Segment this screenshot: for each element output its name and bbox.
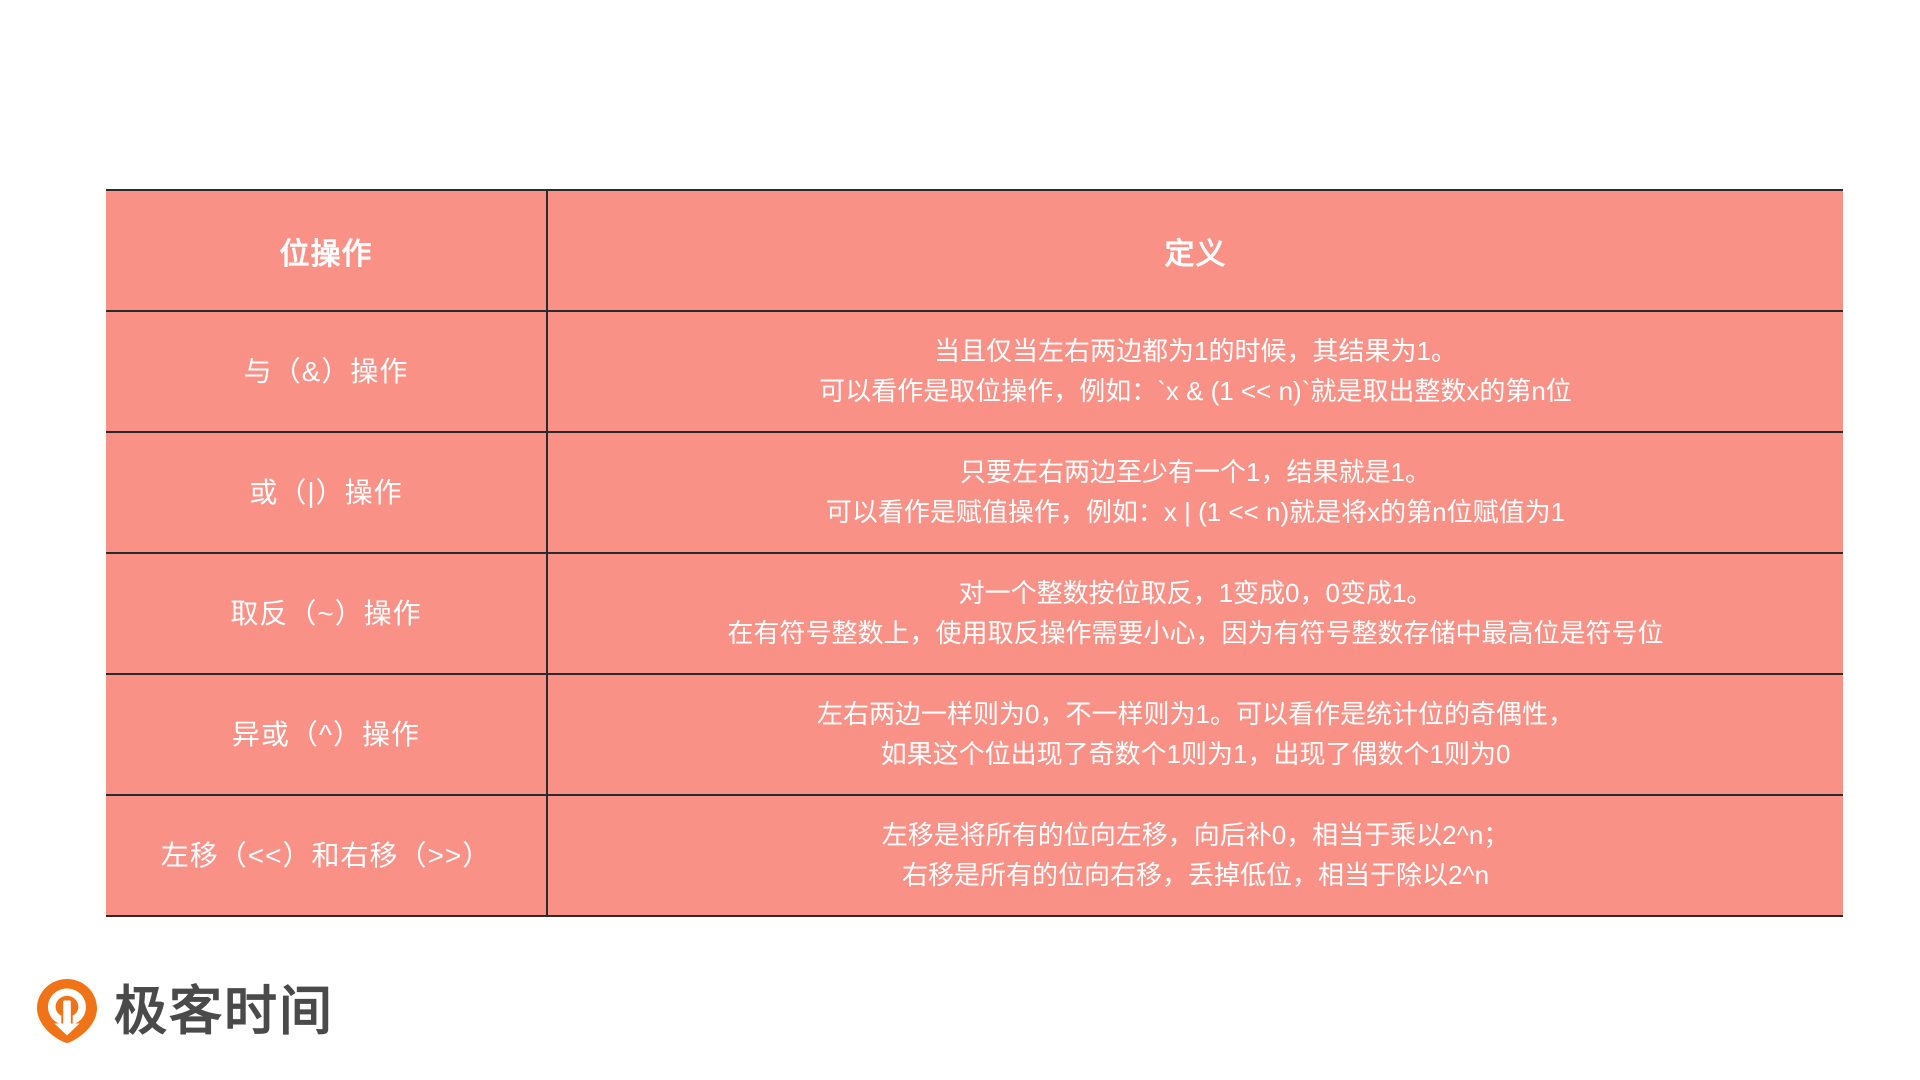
operation-label: 左移（<<）和右移（>>）: [106, 837, 546, 875]
cell-operation: 异或（^）操作: [106, 674, 547, 795]
table-header-row: 位操作 定义: [106, 190, 1843, 311]
cell-operation: 左移（<<）和右移（>>）: [106, 795, 547, 916]
definition-line: 可以看作是取位操作，例如：`x & (1 << n)`就是取出整数x的第n位: [548, 372, 1843, 412]
operation-label: 与（&）操作: [106, 353, 546, 391]
table-row: 与（&）操作 当且仅当左右两边都为1的时候，其结果为1。 可以看作是取位操作，例…: [106, 311, 1843, 432]
definition-line: 可以看作是赋值操作，例如：x | (1 << n)就是将x的第n位赋值为1: [548, 493, 1843, 533]
table-header: 位操作 定义: [106, 190, 1843, 311]
cell-definition: 左右两边一样则为0，不一样则为1。可以看作是统计位的奇偶性， 如果这个位出现了奇…: [547, 674, 1843, 795]
table-row: 取反（~）操作 对一个整数按位取反，1变成0，0变成1。 在有符号整数上，使用取…: [106, 553, 1843, 674]
cell-operation: 取反（~）操作: [106, 553, 547, 674]
table-row: 左移（<<）和右移（>>） 左移是将所有的位向左移，向后补0，相当于乘以2^n；…: [106, 795, 1843, 916]
definition-line: 左移是将所有的位向左移，向后补0，相当于乘以2^n；: [548, 816, 1843, 856]
cell-definition: 当且仅当左右两边都为1的时候，其结果为1。 可以看作是取位操作，例如：`x & …: [547, 311, 1843, 432]
column-header-operation: 位操作: [106, 190, 547, 311]
cell-operation: 与（&）操作: [106, 311, 547, 432]
slide-canvas: 位操作 定义 与（&）操作 当且仅当左右两边都为1的时候，其结果为1。 可以看作…: [0, 0, 1920, 1080]
brand-logo-text: 极客时间: [114, 985, 334, 1038]
definition-line: 只要左右两边至少有一个1，结果就是1。: [548, 453, 1843, 493]
definition-line: 对一个整数按位取反，1变成0，0变成1。: [548, 574, 1843, 614]
definition-line: 当且仅当左右两边都为1的时候，其结果为1。: [548, 332, 1843, 372]
column-header-definition: 定义: [547, 190, 1843, 311]
table-row: 或（|）操作 只要左右两边至少有一个1，结果就是1。 可以看作是赋值操作，例如：…: [106, 432, 1843, 553]
bit-operations-table: 位操作 定义 与（&）操作 当且仅当左右两边都为1的时候，其结果为1。 可以看作…: [106, 189, 1843, 917]
geekbang-pin-icon: [36, 978, 98, 1044]
definition-line: 左右两边一样则为0，不一样则为1。可以看作是统计位的奇偶性，: [548, 695, 1843, 735]
brand-logo: 极客时间: [36, 978, 334, 1044]
cell-definition: 只要左右两边至少有一个1，结果就是1。 可以看作是赋值操作，例如：x | (1 …: [547, 432, 1843, 553]
bit-operations-table-container: 位操作 定义 与（&）操作 当且仅当左右两边都为1的时候，其结果为1。 可以看作…: [106, 189, 1843, 917]
definition-line: 如果这个位出现了奇数个1则为1，出现了偶数个1则为0: [548, 735, 1843, 775]
definition-line: 在有符号整数上，使用取反操作需要小心，因为有符号整数存储中最高位是符号位: [548, 614, 1843, 654]
cell-definition: 对一个整数按位取反，1变成0，0变成1。 在有符号整数上，使用取反操作需要小心，…: [547, 553, 1843, 674]
operation-label: 异或（^）操作: [106, 716, 546, 754]
cell-definition: 左移是将所有的位向左移，向后补0，相当于乘以2^n； 右移是所有的位向右移，丢掉…: [547, 795, 1843, 916]
operation-label: 或（|）操作: [106, 474, 546, 512]
table-row: 异或（^）操作 左右两边一样则为0，不一样则为1。可以看作是统计位的奇偶性， 如…: [106, 674, 1843, 795]
cell-operation: 或（|）操作: [106, 432, 547, 553]
definition-line: 右移是所有的位向右移，丢掉低位，相当于除以2^n: [548, 856, 1843, 896]
table-body: 与（&）操作 当且仅当左右两边都为1的时候，其结果为1。 可以看作是取位操作，例…: [106, 311, 1843, 916]
operation-label: 取反（~）操作: [106, 595, 546, 633]
